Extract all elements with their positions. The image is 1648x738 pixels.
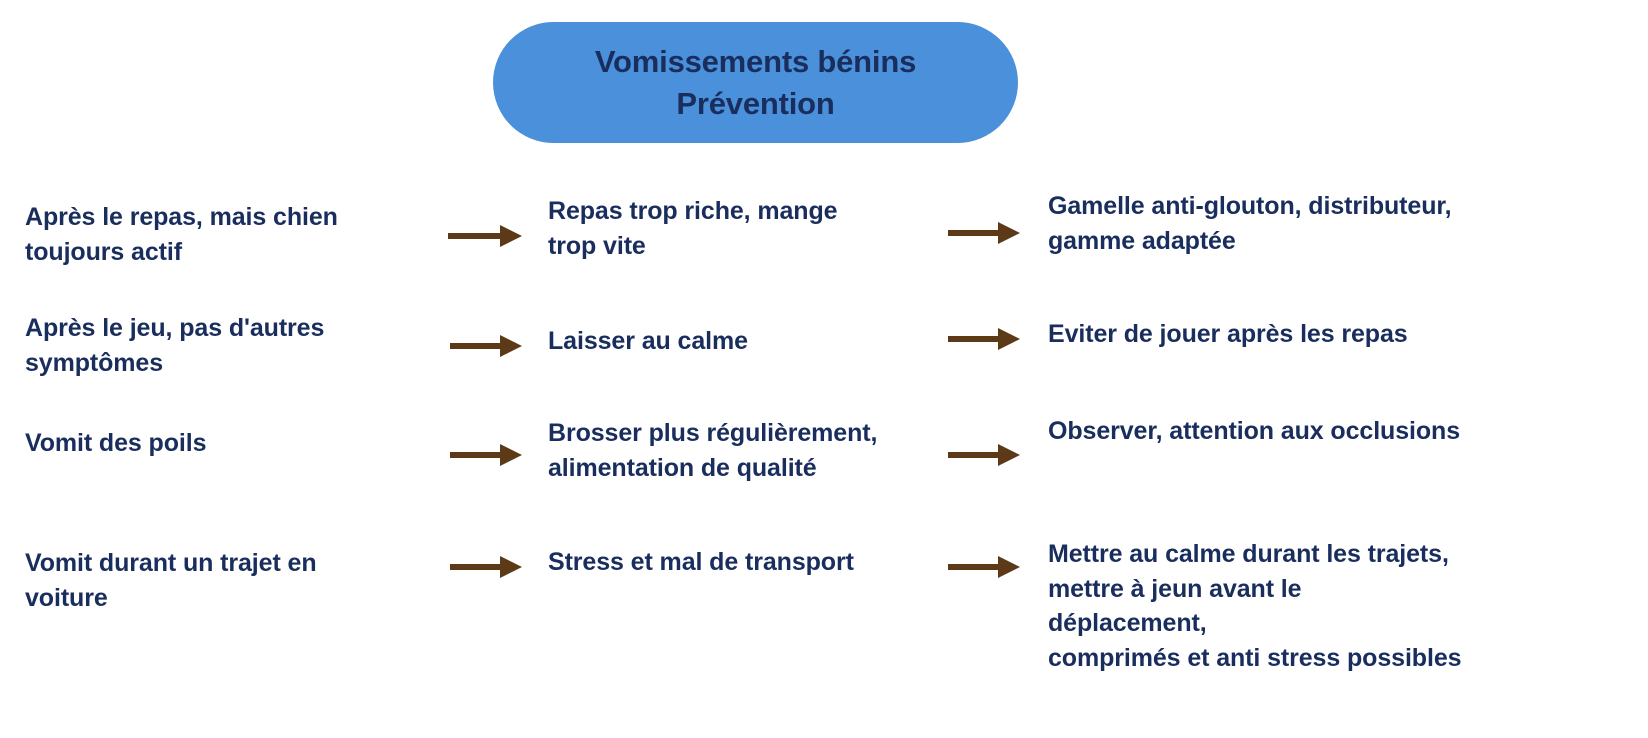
prevention-cell-3: Observer, attention aux occlusions [1048,414,1638,449]
symptom-2-line-1: Après le jeu, pas d'autres [25,311,435,346]
prevention-cell-4: Mettre au calme durant les trajets, mett… [1048,537,1638,675]
symptom-4-line-1: Vomit durant un trajet en [25,546,435,581]
cause-cell-4: Stress et mal de transport [548,545,938,580]
right-arrow-icon [448,223,522,249]
prevention-1-line-2: gamme adaptée [1048,224,1638,259]
cause-1-line-1: Repas trop riche, mange [548,194,938,229]
flow-row-3: Vomit des poils Brosser plus régulièreme… [0,420,1648,505]
symptom-1-line-2: toujours actif [25,235,435,270]
header-pill: Vomissements bénins Prévention [493,22,1018,143]
symptom-cell-2: Après le jeu, pas d'autres symptômes [25,311,435,380]
prevention-cell-1: Gamelle anti-glouton, distributeur, gamm… [1048,189,1638,258]
flow-row-1: Après le repas, mais chien toujours acti… [0,200,1648,290]
diagram-canvas: Vomissements bénins Prévention Après le … [0,0,1648,738]
cause-3-line-2: alimentation de qualité [548,451,938,486]
right-arrow-icon [948,326,1020,352]
prevention-4-line-1: Mettre au calme durant les trajets, [1048,537,1638,572]
symptom-2-line-2: symptômes [25,346,435,381]
symptom-1-line-1: Après le repas, mais chien [25,200,435,235]
right-arrow-icon [450,554,522,580]
cause-cell-3: Brosser plus régulièrement, alimentation… [548,416,938,485]
header-title-line-2: Prévention [676,83,834,124]
symptom-3-line-1: Vomit des poils [25,426,435,461]
flow-row-2: Après le jeu, pas d'autres symptômes Lai… [0,311,1648,391]
right-arrow-icon [948,442,1020,468]
symptom-cell-3: Vomit des poils [25,426,435,461]
prevention-1-line-1: Gamelle anti-glouton, distributeur, [1048,189,1638,224]
prevention-3-line-1: Observer, attention aux occlusions [1048,414,1638,449]
right-arrow-icon [948,554,1020,580]
prevention-4-line-3: déplacement, [1048,606,1638,641]
cause-cell-2: Laisser au calme [548,324,938,359]
right-arrow-icon [450,442,522,468]
symptom-4-line-2: voiture [25,581,435,616]
cause-2-line-1: Laisser au calme [548,324,938,359]
cause-3-line-1: Brosser plus régulièrement, [548,416,938,451]
symptom-cell-1: Après le repas, mais chien toujours acti… [25,200,435,269]
right-arrow-icon [450,333,522,359]
symptom-cell-4: Vomit durant un trajet en voiture [25,546,435,615]
right-arrow-icon [948,220,1020,246]
flow-row-4: Vomit durant un trajet en voiture Stress… [0,540,1648,680]
prevention-2-line-1: Eviter de jouer après les repas [1048,317,1638,352]
cause-4-line-1: Stress et mal de transport [548,545,938,580]
prevention-4-line-4: comprimés et anti stress possibles [1048,641,1638,676]
cause-1-line-2: trop vite [548,229,938,264]
prevention-cell-2: Eviter de jouer après les repas [1048,317,1638,352]
cause-cell-1: Repas trop riche, mange trop vite [548,194,938,263]
header-title-line-1: Vomissements bénins [595,41,916,82]
prevention-4-line-2: mettre à jeun avant le [1048,572,1638,607]
